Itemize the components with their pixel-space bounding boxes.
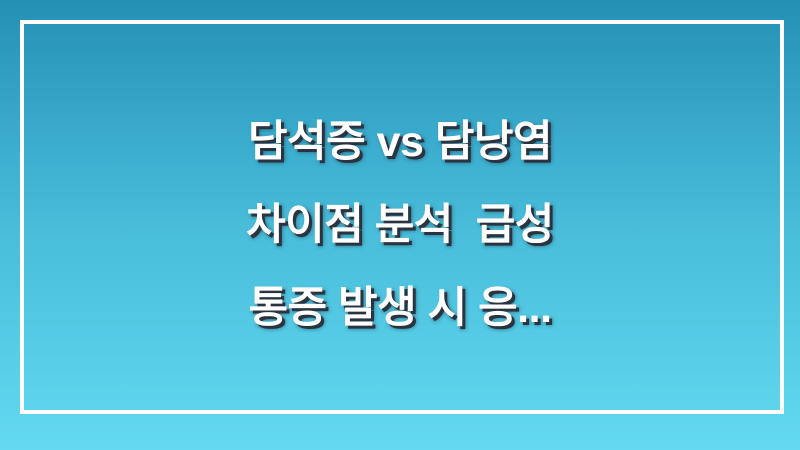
video-thumbnail-card: 담석증 vs 담낭염 차이점 분석 급성 통증 발생 시 응... bbox=[0, 0, 800, 450]
title-line-1: 담석증 vs 담낭염 bbox=[60, 101, 740, 184]
title-line-3: 통증 발생 시 응... bbox=[60, 267, 740, 350]
title-block: 담석증 vs 담낭염 차이점 분석 급성 통증 발생 시 응... bbox=[0, 0, 800, 450]
title-line-2: 차이점 분석 급성 bbox=[60, 184, 740, 267]
